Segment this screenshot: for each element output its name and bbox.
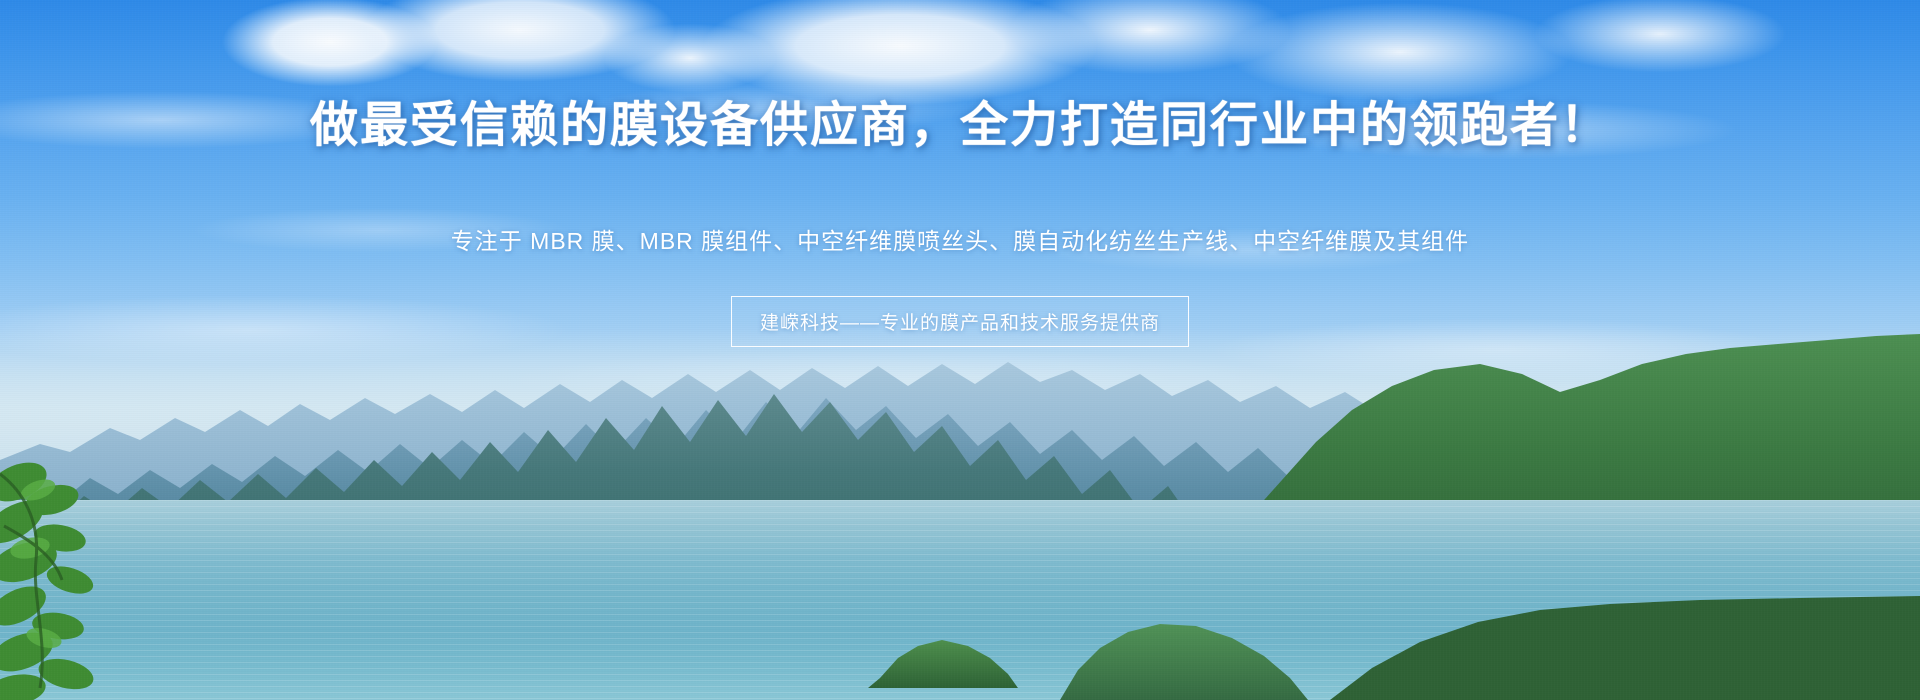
hero-banner: 做最受信赖的膜设备供应商，全力打造同行业中的领跑者！ 专注于 MBR 膜、MBR…: [0, 0, 1920, 700]
banner-tagline-wrapper: 建嵘科技——专业的膜产品和技术服务提供商: [0, 296, 1920, 347]
banner-headline: 做最受信赖的膜设备供应商，全力打造同行业中的领跑者！: [0, 98, 1920, 153]
banner-tagline-box: 建嵘科技——专业的膜产品和技术服务提供商: [731, 296, 1189, 347]
banner-subtitle: 专注于 MBR 膜、MBR 膜组件、中空纤维膜喷丝头、膜自动化纺丝生产线、中空纤…: [0, 222, 1920, 256]
banner-text-overlay: 做最受信赖的膜设备供应商，全力打造同行业中的领跑者！ 专注于 MBR 膜、MBR…: [0, 0, 1920, 700]
